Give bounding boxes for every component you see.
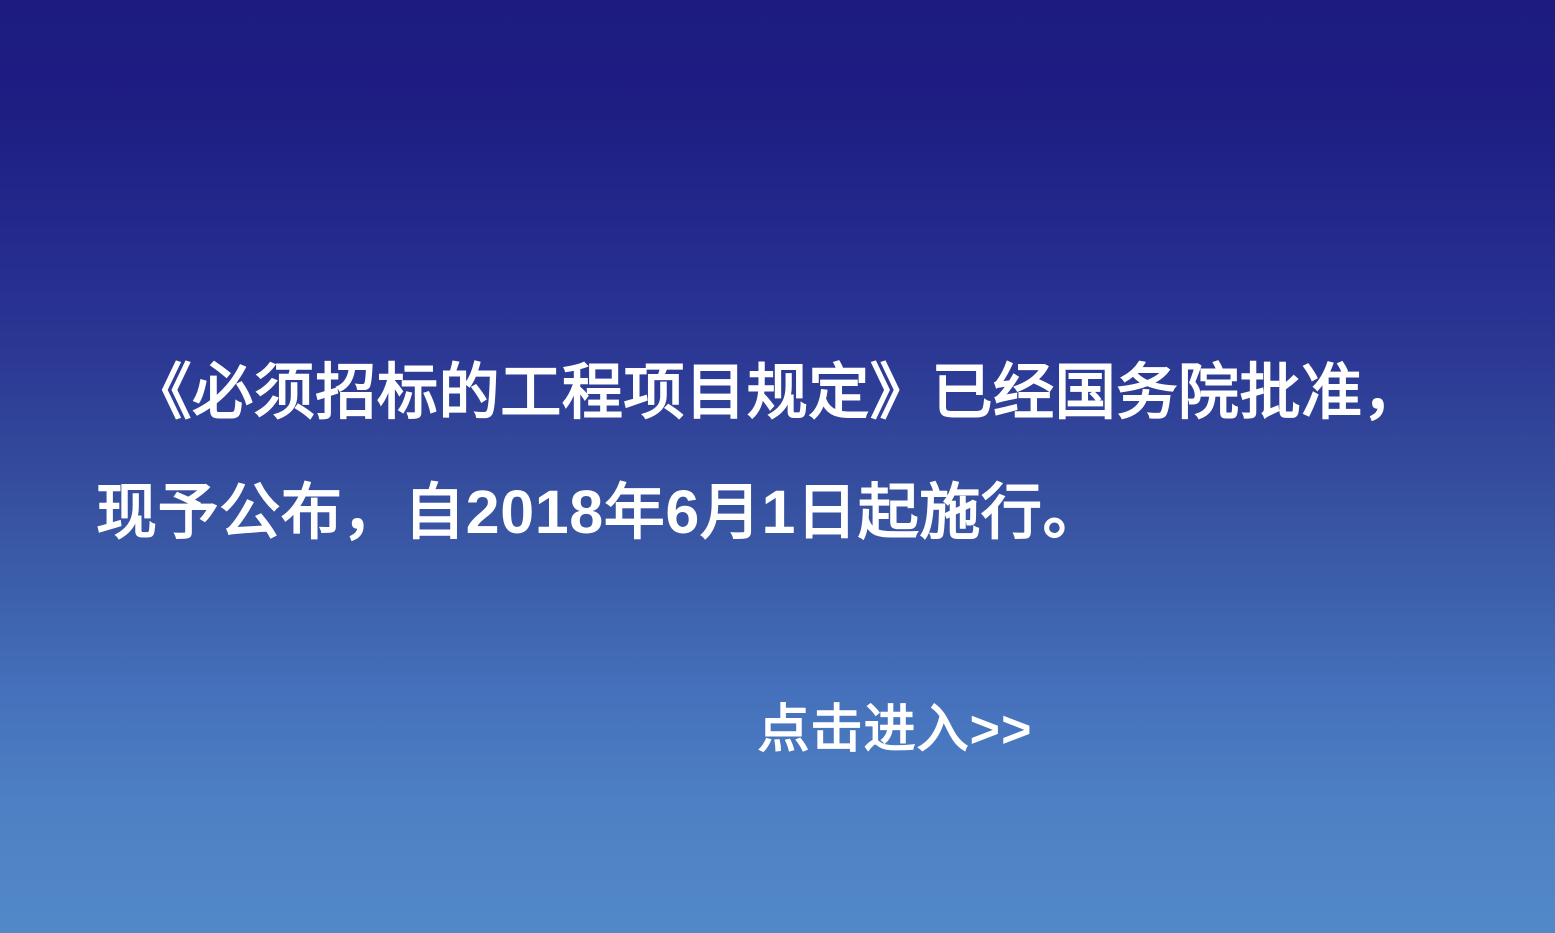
enter-link[interactable]: 点击进入>>	[758, 688, 1033, 772]
statement-line-1: 《必须招标的工程项目规定》已经国务院批准，	[0, 332, 1555, 452]
statement-line-2: 现予公布，自2018年6月1日起施行。	[0, 452, 1555, 572]
statement-block: 《必须招标的工程项目规定》已经国务院批准， 现予公布，自2018年6月1日起施行…	[0, 332, 1555, 572]
promo-banner: 《必须招标的工程项目规定》已经国务院批准， 现予公布，自2018年6月1日起施行…	[0, 0, 1555, 933]
cta-container: 点击进入>>	[0, 688, 1555, 772]
